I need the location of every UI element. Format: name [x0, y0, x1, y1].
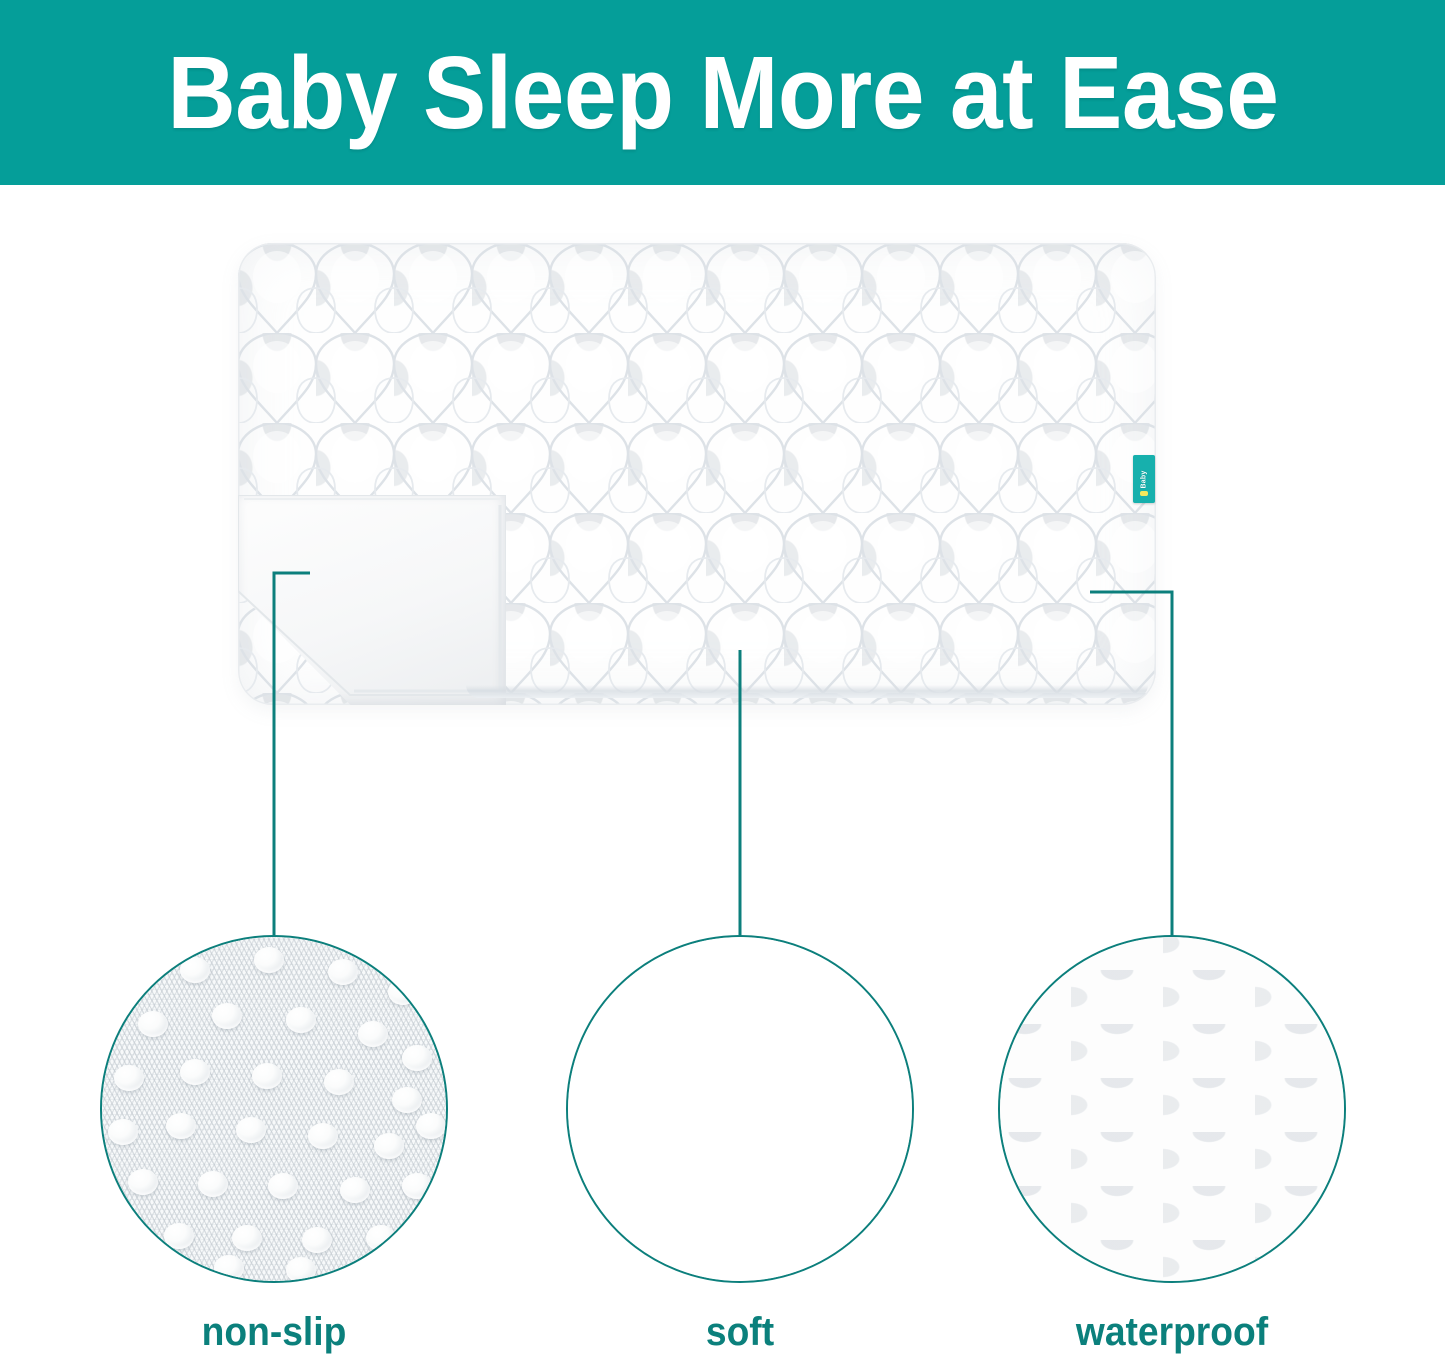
soft-fabric-background [568, 937, 912, 1281]
detail-circle-soft [566, 935, 914, 1283]
caption-waterproof: waterproof [1010, 1310, 1334, 1355]
caption-soft: soft [578, 1310, 902, 1355]
waterproof-closeup-image [1000, 937, 1344, 1281]
label-tag-accent [1140, 491, 1148, 496]
pad-hem-stitching [466, 685, 1148, 698]
silicone-dot-grid [102, 937, 446, 1281]
header-banner: Baby Sleep More at Ease [0, 0, 1445, 185]
mattress-pad: Baby [238, 243, 1156, 705]
soft-closeup-image [568, 937, 912, 1281]
page-title: Baby Sleep More at Ease [167, 41, 1278, 144]
label-tag-text: Baby [1140, 470, 1147, 488]
non-slip-closeup-image [102, 937, 446, 1281]
detail-circle-non-slip [100, 935, 448, 1283]
product-label-tag: Baby [1133, 455, 1155, 503]
quilted-surface-texture [1000, 937, 1344, 1281]
detail-circle-waterproof [998, 935, 1346, 1283]
product-image-stage: Baby [0, 185, 1445, 745]
product-infographic: Baby Sleep More at Ease [0, 0, 1445, 1367]
caption-non-slip: non-slip [112, 1310, 436, 1355]
